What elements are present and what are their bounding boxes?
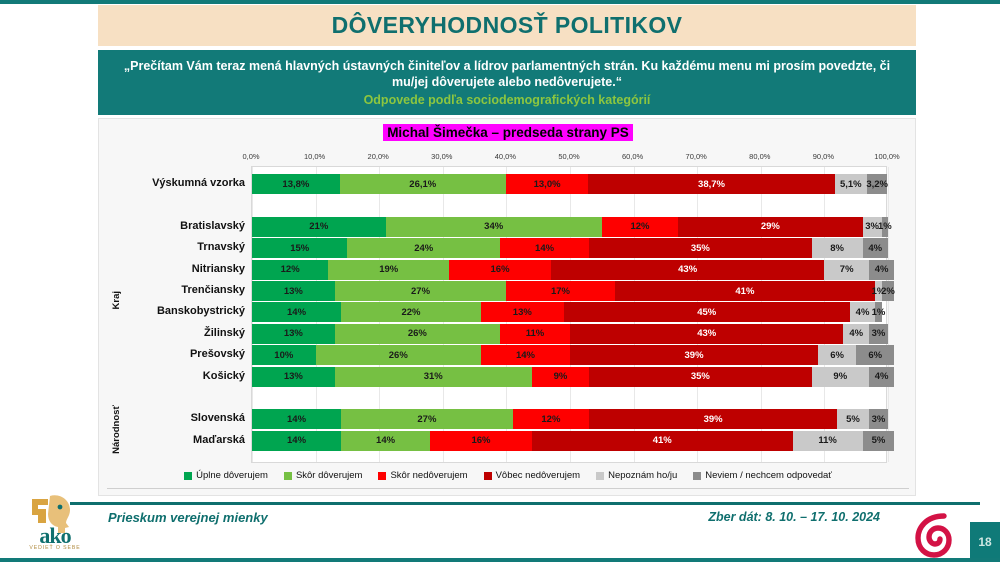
bar-segment[interactable]: 27% [341,409,513,429]
chart-bar-row[interactable]: 14%27%12%39%5%3% [252,409,886,429]
chart-bar-row[interactable]: 10%26%14%39%6%6% [252,345,886,365]
x-tick-label: 30,0% [431,152,452,161]
legend-item[interactable]: Skôr dôverujem [284,470,363,481]
category-label: Banskobystrický [157,301,245,321]
bar-segment[interactable]: 21% [252,217,386,237]
bar-segment[interactable]: 13,8% [252,174,340,194]
legend-label: Úplne dôverujem [196,470,268,481]
legend-item[interactable]: Vôbec nedôverujem [484,470,581,481]
bar-segment[interactable]: 24% [347,238,500,258]
chart-bar-row[interactable]: 14%22%13%45%4%1% [252,302,886,322]
spiral-logo-icon [914,512,958,558]
bar-segment[interactable]: 4% [843,324,868,344]
bar-segment[interactable]: 9% [532,367,589,387]
bar-segment[interactable]: 6% [856,345,894,365]
x-tick-label: 20,0% [368,152,389,161]
category-label: Trenčiansky [181,280,245,300]
bar-segment[interactable]: 43% [570,324,843,344]
bar-segment[interactable]: 27% [335,281,507,301]
bar-segment[interactable]: 16% [430,431,532,451]
bar-segment[interactable]: 26% [335,324,500,344]
bar-segment[interactable]: 14% [481,345,570,365]
bar-segment[interactable]: 14% [252,302,341,322]
footer-date-text: Zber dát: 8. 10. – 17. 10. 2024 [708,510,880,524]
chart-gridline [888,167,889,462]
category-label: Výskumná vzorka [152,173,245,193]
bar-segment[interactable]: 26,1% [340,174,506,194]
bar-segment[interactable]: 10% [252,345,316,365]
bar-segment[interactable]: 19% [328,260,449,280]
x-tick-label: 10,0% [304,152,325,161]
bar-segment[interactable]: 13% [252,367,335,387]
x-tick-label: 100,0% [874,152,899,161]
bar-segment[interactable]: 8% [812,238,863,258]
bar-segment[interactable]: 1% [875,302,881,322]
x-tick-label: 70,0% [686,152,707,161]
bar-segment[interactable]: 43% [551,260,824,280]
chart-title-wrap: Michal Šimečka – predseda strany PS [99,124,917,142]
category-label: Slovenská [191,408,245,428]
bar-segment[interactable]: 5% [863,431,895,451]
bar-segment[interactable]: 12% [513,409,589,429]
question-subtitle: Odpovede podľa sociodemografických kateg… [364,93,651,107]
bar-segment[interactable]: 12% [602,217,678,237]
bar-segment[interactable]: 4% [869,367,894,387]
chart-title: Michal Šimečka – predseda strany PS [383,124,633,141]
legend-item[interactable]: Skôr nedôverujem [378,470,467,481]
legend-divider [107,488,909,489]
bar-segment[interactable]: 31% [335,367,532,387]
legend-label: Vôbec nedôverujem [496,470,581,481]
bar-segment[interactable]: 12% [252,260,328,280]
bar-segment[interactable]: 29% [678,217,862,237]
chart-category-labels: Výskumná vzorkaBratislavskýTrnavskýNitri… [99,166,251,463]
question-text: „Prečítam Vám teraz mená hlavných ústavn… [112,58,902,90]
category-label: Bratislavský [180,216,245,236]
bar-segment[interactable]: 13% [252,324,335,344]
bar-segment[interactable]: 38,7% [588,174,834,194]
legend-swatch-icon [693,472,701,480]
bar-segment[interactable]: 13% [481,302,564,322]
page-title: DÔVERYHODNOSŤ POLITIKOV [332,12,683,39]
legend-swatch-icon [184,472,192,480]
bar-segment[interactable]: 4% [863,238,888,258]
legend-swatch-icon [378,472,386,480]
bar-segment[interactable]: 6% [818,345,856,365]
bar-segment[interactable]: 17% [506,281,614,301]
bar-segment[interactable]: 41% [532,431,793,451]
chart-plot-area: 13,8%26,1%13,0%38,7%5,1%3,2%21%34%12%29%… [251,166,887,463]
bar-segment[interactable]: 3% [869,324,888,344]
x-tick-label: 60,0% [622,152,643,161]
chart-bar-row[interactable]: 13%31%9%35%9%4% [252,367,886,387]
bar-segment[interactable]: 11% [500,324,570,344]
x-tick-label: 50,0% [558,152,579,161]
bar-segment[interactable]: 11% [793,431,863,451]
x-tick-label: 0,0% [242,152,259,161]
bar-segment[interactable]: 5% [837,409,869,429]
bar-segment[interactable]: 35% [589,367,812,387]
bar-segment[interactable]: 14% [341,431,430,451]
footer-divider [70,502,980,505]
legend-item[interactable]: Úplne dôverujem [184,470,268,481]
bar-segment[interactable]: 14% [500,238,589,258]
ako-logo-tagline: VEDIEŤ O SEBE [14,545,96,551]
bar-segment[interactable]: 16% [449,260,551,280]
bar-segment[interactable]: 26% [316,345,481,365]
bar-segment[interactable]: 34% [386,217,602,237]
x-tick-label: 80,0% [749,152,770,161]
slide-title-band: DÔVERYHODNOSŤ POLITIKOV [98,5,916,46]
legend-label: Nepoznám ho/ju [608,470,677,481]
legend-item[interactable]: Neviem / nechcem odpovedať [693,470,832,481]
chart-bar-row[interactable]: 14%14%16%41%11%5% [252,431,886,451]
group-label-kraj: Kraj [109,216,125,386]
bar-segment[interactable]: 7% [824,260,869,280]
page-number-badge: 18 [970,522,1000,562]
legend-swatch-icon [284,472,292,480]
bar-segment[interactable]: 9% [812,367,869,387]
bar-segment[interactable]: 14% [252,409,341,429]
bar-segment[interactable]: 41% [615,281,876,301]
category-label: Maďarská [193,430,245,450]
bar-segment[interactable]: 15% [252,238,347,258]
bar-segment[interactable]: 14% [252,431,341,451]
category-label: Žilinský [204,323,245,343]
bar-segment[interactable]: 39% [570,345,818,365]
chart-bar-row[interactable]: 13%26%11%43%4%3% [252,324,886,344]
footer-left-text: Prieskum verejnej mienky [108,510,268,525]
legend-item[interactable]: Nepoznám ho/ju [596,470,677,481]
bar-segment[interactable]: 4% [869,260,894,280]
category-label: Košický [203,366,245,386]
bar-segment[interactable]: 1% [882,217,888,237]
bottom-rule [0,558,1000,562]
chart-panel: Michal Šimečka – predseda strany PS 0,0%… [98,118,916,496]
chart-legend: Úplne dôverujemSkôr dôverujemSkôr nedôve… [99,470,917,481]
category-label: Prešovský [190,344,245,364]
legend-swatch-icon [484,472,492,480]
group-label-národnosť: Národnosť [109,408,125,449]
bar-segment[interactable]: 3% [869,409,888,429]
bar-segment[interactable]: 35% [589,238,812,258]
chart-x-axis: 0,0%10,0%20,0%30,0%40,0%50,0%60,0%70,0%8… [251,152,887,166]
chart-bar-row[interactable]: 13,8%26,1%13,0%38,7%5,1%3,2% [252,174,886,194]
legend-label: Skôr dôverujem [296,470,363,481]
chart-bar-row[interactable]: 13%27%17%41%1%2% [252,281,886,301]
bar-segment[interactable]: 45% [564,302,850,322]
bar-segment[interactable]: 5,1% [835,174,867,194]
legend-label: Skôr nedôverujem [390,470,467,481]
x-tick-label: 90,0% [813,152,834,161]
top-rule [0,0,1000,4]
chart-bar-row[interactable]: 15%24%14%35%8%4% [252,238,886,258]
bar-segment[interactable]: 22% [341,302,481,322]
bar-segment[interactable]: 13,0% [506,174,589,194]
x-tick-label: 40,0% [495,152,516,161]
bar-segment[interactable]: 2% [882,281,895,301]
bar-segment[interactable]: 13% [252,281,335,301]
legend-label: Neviem / nechcem odpovedať [705,470,832,481]
bar-segment[interactable]: 3,2% [867,174,887,194]
chart-bar-row[interactable]: 12%19%16%43%7%4% [252,260,886,280]
legend-swatch-icon [596,472,604,480]
bar-segment[interactable]: 39% [589,409,837,429]
category-label: Nitriansky [192,259,245,279]
chart-bar-row[interactable]: 21%34%12%29%3%1% [252,217,886,237]
question-band: „Prečítam Vám teraz mená hlavných ústavn… [98,50,916,115]
category-label: Trnavský [197,237,245,257]
slide-root: DÔVERYHODNOSŤ POLITIKOV „Prečítam Vám te… [0,0,1000,562]
